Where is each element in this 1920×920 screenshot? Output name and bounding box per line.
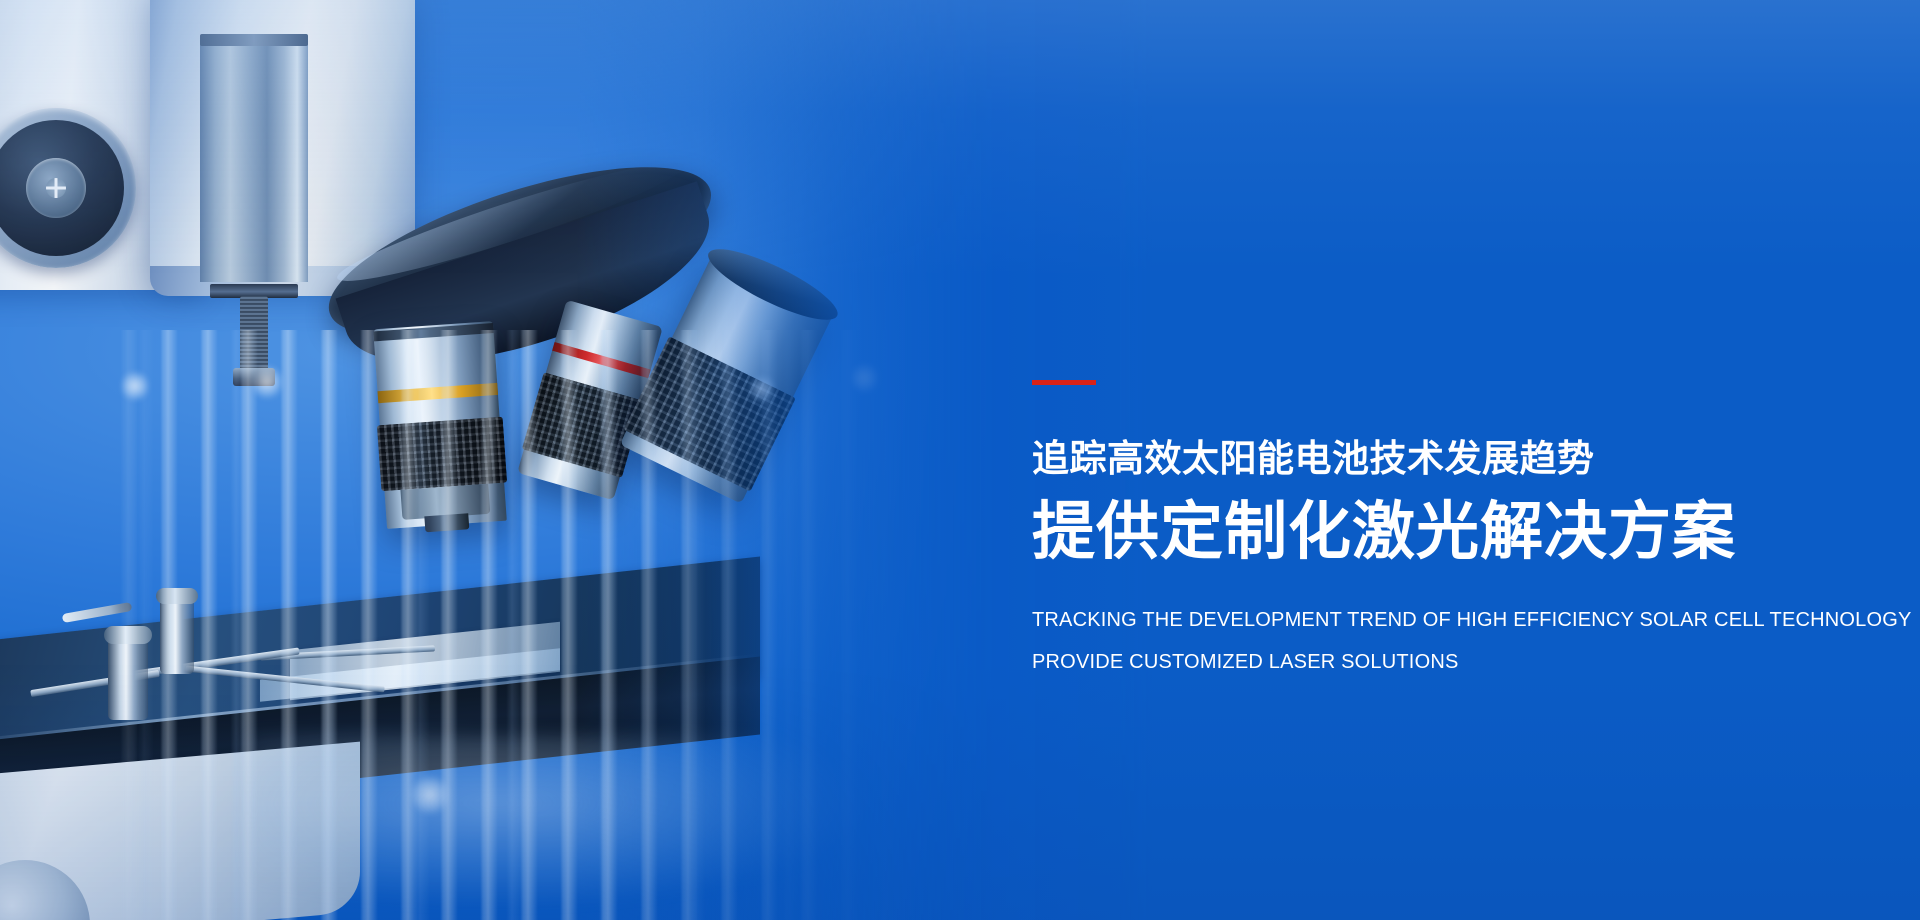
- hero-subtitle-en-line1: TRACKING THE DEVELOPMENT TREND OF HIGH E…: [1032, 610, 1852, 630]
- accent-rule: [1032, 380, 1096, 385]
- hero-title-cn: 提供定制化激光解决方案: [1032, 495, 1852, 569]
- hero-eyebrow-cn: 追踪高效太阳能电池技术发展趋势: [1032, 437, 1852, 481]
- hero-text-block: 追踪高效太阳能电池技术发展趋势 提供定制化激光解决方案 TRACKING THE…: [1032, 380, 1852, 672]
- hero-subtitle-en-line2: PROVIDE CUSTOMIZED LASER SOLUTIONS: [1032, 652, 1852, 672]
- hero-banner: 追踪高效太阳能电池技术发展趋势 提供定制化激光解决方案 TRACKING THE…: [0, 0, 1920, 920]
